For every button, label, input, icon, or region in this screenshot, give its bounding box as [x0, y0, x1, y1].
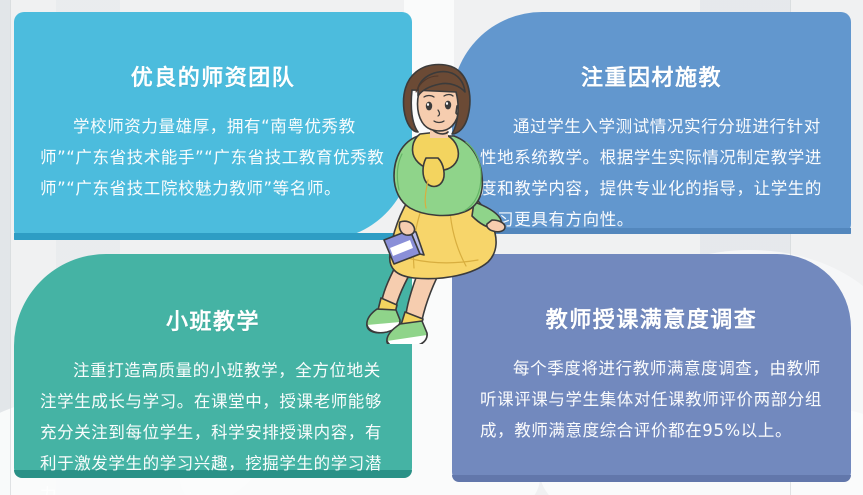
- card-small-class-teaching: 小班教学 注重打造高质量的小班教学，全方位地关注学生成长与学习。在课堂中，授课老…: [14, 254, 412, 478]
- card-teacher-satisfaction-survey: 教师授课满意度调查 每个季度将进行教师满意度调查，由教师听课评课与学生集体对任课…: [452, 254, 851, 482]
- card-body-text: 注重打造高质量的小班教学，全方位地关注学生成长与学习。在课堂中，授课老师能够充分…: [40, 355, 390, 495]
- card-body-text: 每个季度将进行教师满意度调查，由教师听课评课与学生集体对任课教师评价两部分组成，…: [480, 353, 825, 446]
- card-tailored-teaching: 注重因材施教 通过学生入学测试情况实行分班进行针对性地系统教学。根据学生实际情况…: [452, 12, 851, 234]
- card-body-text: 通过学生入学测试情况实行分班进行针对性地系统教学。根据学生实际情况制定教学进度和…: [480, 111, 825, 235]
- card-title: 小班教学: [14, 272, 412, 336]
- background-divider-line: [10, 0, 11, 495]
- poster-canvas: 优良的师资团队 学校师资力量雄厚，拥有“南粤优秀教师”“广东省技术能手”“广东省…: [0, 0, 863, 495]
- card-body-text: 学校师资力量雄厚，拥有“南粤优秀教师”“广东省技术能手”“广东省技工教育优秀教师…: [40, 111, 390, 204]
- card-title: 注重因材施教: [452, 30, 851, 92]
- card-title: 教师授课满意度调查: [452, 272, 851, 334]
- seated-girl-illustration: [366, 62, 506, 344]
- card-title: 优良的师资团队: [14, 30, 412, 92]
- card-excellent-faculty: 优良的师资团队 学校师资力量雄厚，拥有“南粤优秀教师”“广东省技术能手”“广东省…: [14, 12, 412, 240]
